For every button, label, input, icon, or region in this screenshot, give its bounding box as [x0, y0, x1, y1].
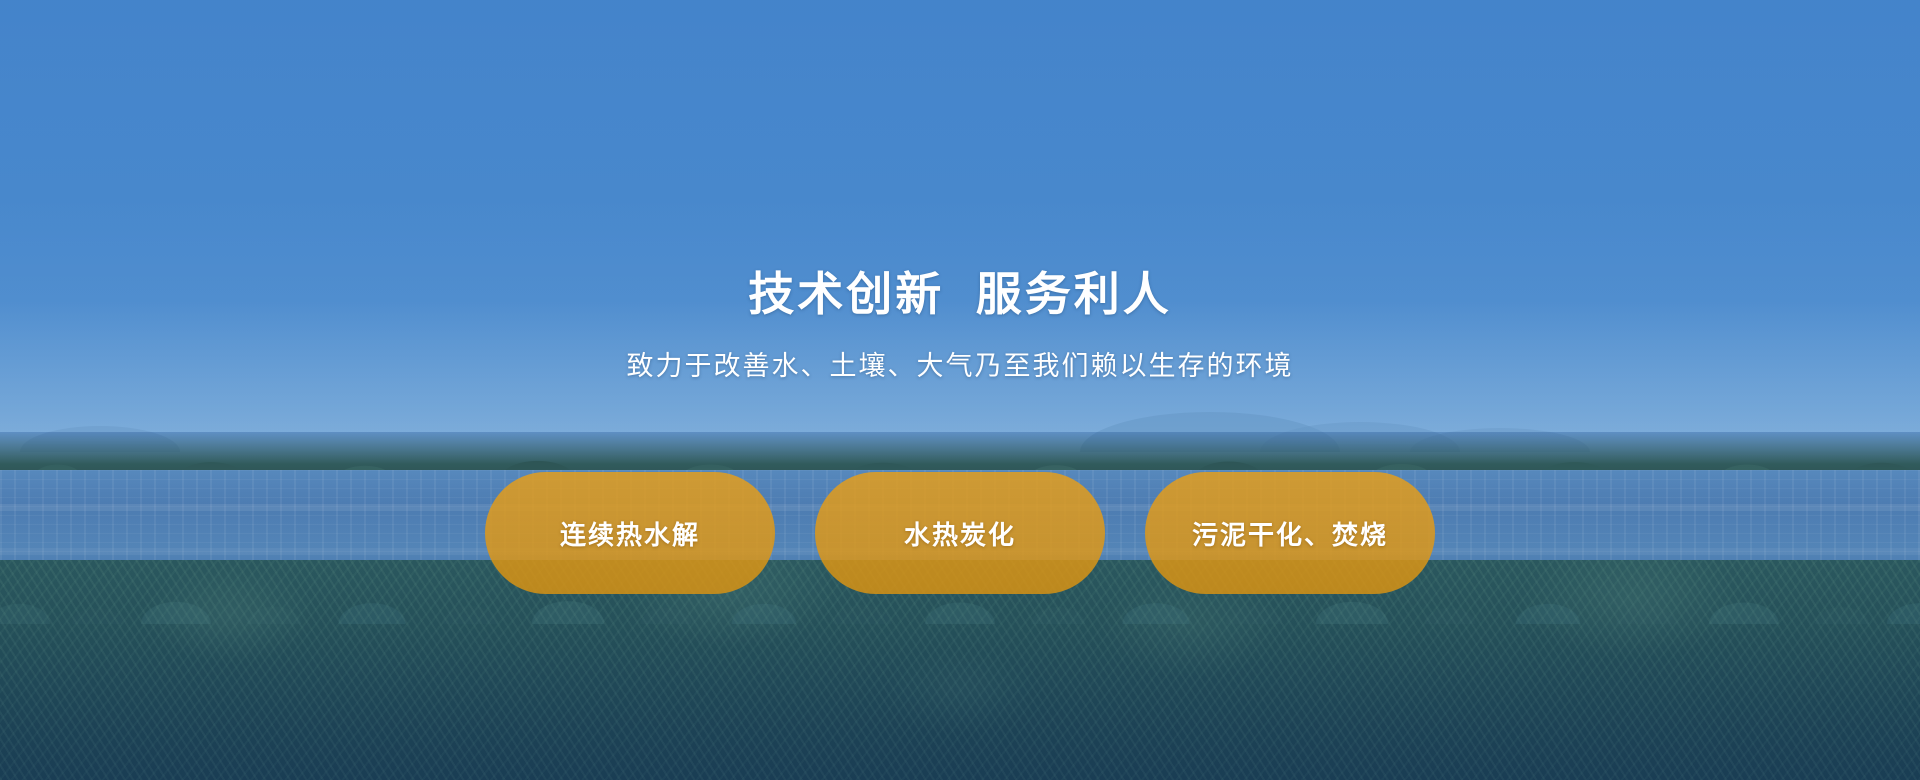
category-button-group: 连续热水解 水热炭化 污泥干化、焚烧 — [0, 472, 1920, 594]
category-button-label: 污泥干化、焚烧 — [1192, 515, 1388, 552]
hero-subheadline: 致力于改善水、土壤、大气乃至我们赖以生存的环境 — [627, 344, 1294, 383]
category-button-hydrothermal-carbonization[interactable]: 水热炭化 — [815, 472, 1105, 594]
category-button-label: 连续热水解 — [560, 515, 700, 552]
category-button-sludge-drying-incineration[interactable]: 污泥干化、焚烧 — [1145, 472, 1435, 594]
category-button-continuous-thermal-hydrolysis[interactable]: 连续热水解 — [485, 472, 775, 594]
hero-headline: 技术创新 服务利人 — [748, 258, 1172, 324]
category-button-label: 水热炭化 — [904, 515, 1016, 552]
hero-banner: 技术创新 服务利人 致力于改善水、土壤、大气乃至我们赖以生存的环境 连续热水解 … — [0, 0, 1920, 780]
